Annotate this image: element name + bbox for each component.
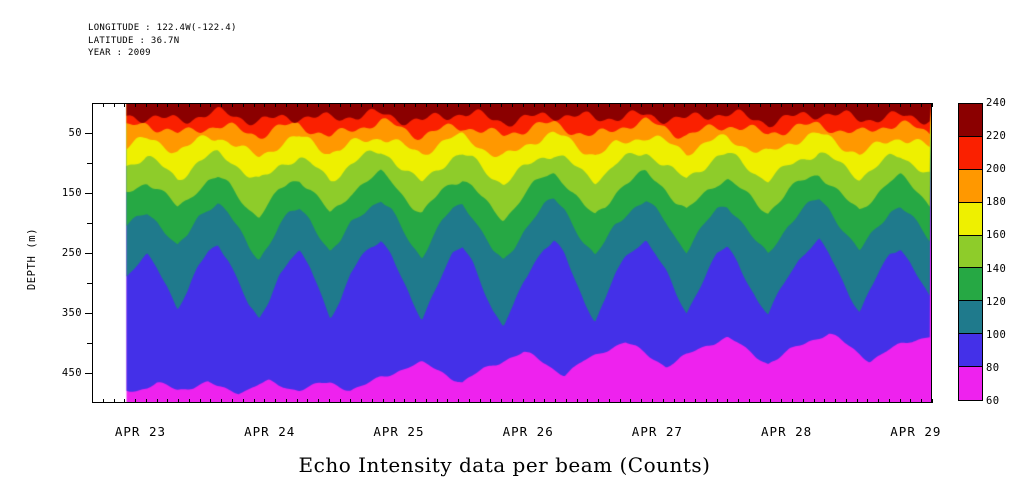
colorbar <box>958 103 983 401</box>
day-label: APR 28 <box>761 424 812 439</box>
colorbar-tick-label: 80 <box>986 362 999 374</box>
y-axis-labels: 50150250350450 <box>0 0 82 504</box>
y-tick-minor <box>87 223 93 224</box>
x-axis-ticks-top <box>92 103 932 110</box>
colorbar-tick-label: 120 <box>986 296 1006 308</box>
colorbar-band <box>959 301 982 334</box>
y-tick-label: 50 <box>69 127 82 139</box>
colorbar-tick-label: 180 <box>986 196 1006 208</box>
colorbar-band <box>959 236 982 269</box>
x-axis-ticks-bottom <box>92 396 932 403</box>
colorbar-band <box>959 268 982 301</box>
year-text: YEAR : 2009 <box>88 47 237 60</box>
contour-plot <box>92 103 932 403</box>
colorbar-band <box>959 203 982 236</box>
day-label: APR 24 <box>244 424 295 439</box>
y-tick-major <box>85 313 93 314</box>
latitude-text: LATITUDE : 36.7N <box>88 35 237 48</box>
longitude-text: LONGITUDE : 122.4W(-122.4) <box>88 22 237 35</box>
colorbar-band <box>959 104 982 137</box>
day-label: APR 26 <box>503 424 554 439</box>
colorbar-band <box>959 170 982 203</box>
chart-title: Echo Intensity data per beam (Counts) <box>0 453 1009 477</box>
day-label: APR 29 <box>890 424 941 439</box>
y-tick-major <box>85 253 93 254</box>
y-tick-minor <box>87 283 93 284</box>
y-tick-label: 450 <box>62 367 82 379</box>
y-tick-label: 350 <box>62 307 82 319</box>
day-label: APR 23 <box>115 424 166 439</box>
x-axis-day-labels: APR 23APR 24APR 25APR 26APR 27APR 28APR … <box>92 424 932 442</box>
colorbar-tick-label: 160 <box>986 229 1006 241</box>
colorbar-tick-label: 100 <box>986 329 1006 341</box>
colorbar-tick-label: 200 <box>986 163 1006 175</box>
y-tick-major <box>85 193 93 194</box>
colorbar-tick-label: 60 <box>986 395 999 407</box>
y-tick-minor <box>87 343 93 344</box>
y-tick-major <box>85 133 93 134</box>
y-tick-major <box>85 373 93 374</box>
x-axis-hour-labels <box>92 408 932 422</box>
colorbar-labels: 2402202001801601401201008060 <box>984 103 1009 401</box>
y-tick-label: 250 <box>62 247 82 259</box>
y-axis-title: DEPTH (m) <box>26 204 38 314</box>
colorbar-tick-label: 140 <box>986 263 1006 275</box>
header-metadata: LONGITUDE : 122.4W(-122.4) LATITUDE : 36… <box>88 22 237 60</box>
day-label: APR 27 <box>632 424 683 439</box>
y-tick-minor <box>87 163 93 164</box>
day-label: APR 25 <box>373 424 424 439</box>
y-tick-label: 150 <box>62 187 82 199</box>
colorbar-band <box>959 334 982 367</box>
colorbar-tick-label: 220 <box>986 130 1006 142</box>
colorbar-tick-label: 240 <box>986 97 1006 109</box>
contour-canvas <box>93 104 931 402</box>
colorbar-band <box>959 367 982 400</box>
colorbar-band <box>959 137 982 170</box>
